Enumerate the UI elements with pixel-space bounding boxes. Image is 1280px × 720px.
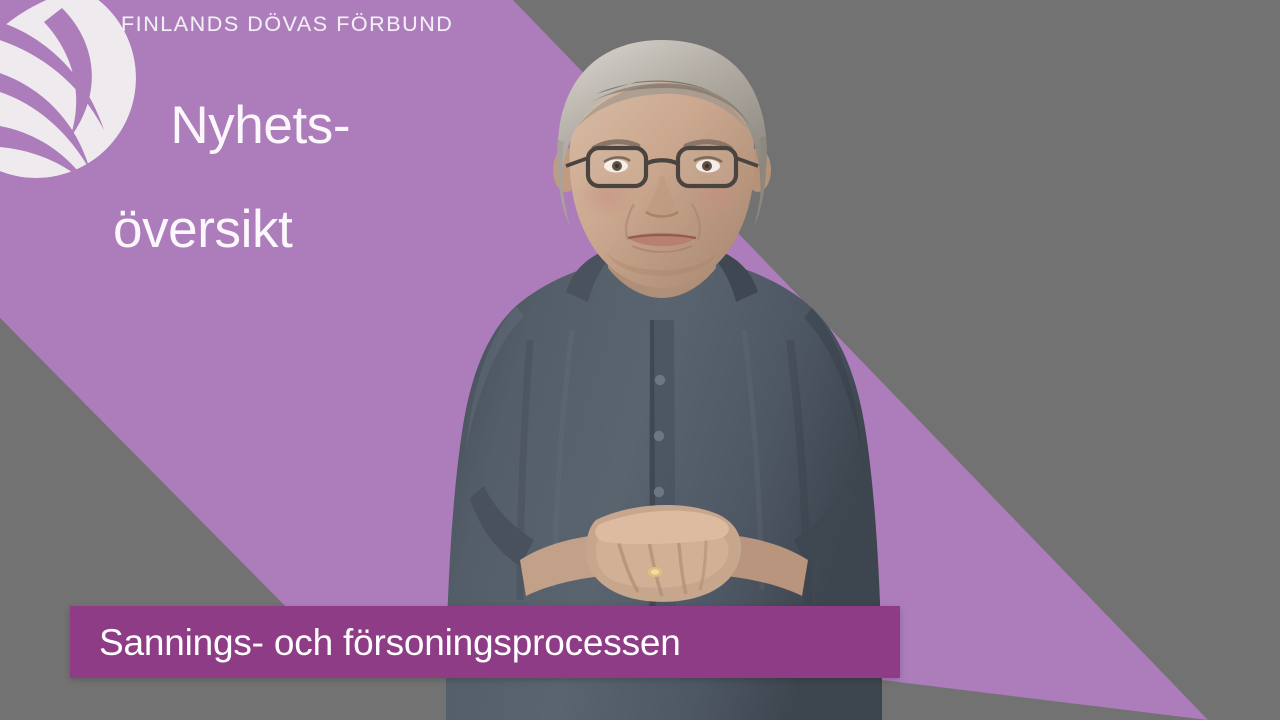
page-title: Nyhets- översikt [113,48,350,360]
organization-kicker: FINLANDS DÖVAS FÖRBUND [121,12,453,37]
video-frame: FINLANDS DÖVAS FÖRBUND Nyhets- översikt [0,0,1280,720]
page-title-line1: Nyhets- [170,96,350,155]
page-title-line2: översikt [113,204,350,256]
caption-bar: Sannings- och försoningsprocessen [70,606,900,678]
caption-text: Sannings- och försoningsprocessen [70,624,681,661]
